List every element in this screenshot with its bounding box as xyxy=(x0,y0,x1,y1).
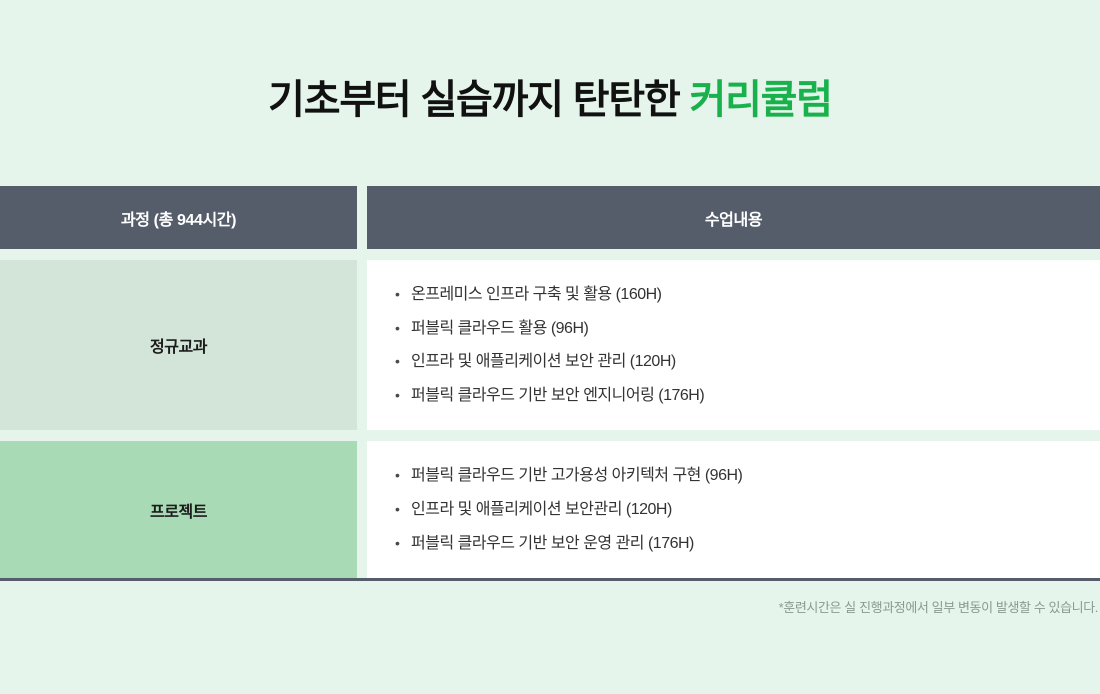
table-header-cell-course: 과정 (총 944시간) xyxy=(0,186,357,249)
table-header-cell-content: 수업내용 xyxy=(367,186,1100,249)
table-row-label-regular: 정규교과 xyxy=(150,333,207,357)
list-item-label: 온프레미스 인프라 구축 및 활용 (160H) xyxy=(411,286,1100,304)
list-item-label: 인프라 및 애플리케이션 보안관리 (120H) xyxy=(411,501,1100,519)
bullet-icon: • xyxy=(395,388,411,402)
table-row: 프로젝트 • 퍼블릭 클라우드 기반 고가용성 아키텍처 구현 (96H) • … xyxy=(0,441,1100,578)
list-item-label: 퍼블릭 클라우드 기반 보안 엔지니어링 (176H) xyxy=(411,387,1100,405)
bullet-icon: • xyxy=(395,536,411,550)
list-item-label: 퍼블릭 클라우드 활용 (96H) xyxy=(411,320,1100,338)
bullet-icon: • xyxy=(395,502,411,516)
bullet-icon: • xyxy=(395,287,411,301)
row-divider-gap xyxy=(0,249,1100,260)
table-row-label-project: 프로젝트 xyxy=(150,498,207,522)
table-row: 정규교과 • 온프레미스 인프라 구축 및 활용 (160H) • 퍼블릭 클라… xyxy=(0,260,1100,430)
footnote-text: *훈련시간은 실 진행과정에서 일부 변동이 발생할 수 있습니다. xyxy=(779,597,1098,616)
table-row-label-cell-project: 프로젝트 xyxy=(0,441,357,578)
footnote-section: *훈련시간은 실 진행과정에서 일부 변동이 발생할 수 있습니다. xyxy=(0,581,1100,616)
list-item: • 퍼블릭 클라우드 활용 (96H) xyxy=(395,312,1100,346)
list-item: • 퍼블릭 클라우드 기반 보안 운영 관리 (176H) xyxy=(395,527,1100,561)
table-row-content-cell-regular: • 온프레미스 인프라 구축 및 활용 (160H) • 퍼블릭 클라우드 활용… xyxy=(367,260,1100,430)
bullet-icon: • xyxy=(395,321,411,335)
page-title-lead: 기초부터 실습까지 탄탄한 xyxy=(268,78,689,122)
table-header-row: 과정 (총 944시간) 수업내용 xyxy=(0,186,1100,249)
table-header-content-label: 수업내용 xyxy=(705,206,762,230)
table-header-course-label: 과정 (총 944시간) xyxy=(121,206,236,230)
curriculum-table: 과정 (총 944시간) 수업내용 정규교과 • 온프레미스 인프라 구축 및 … xyxy=(0,186,1100,581)
list-item-label: 인프라 및 애플리케이션 보안 관리 (120H) xyxy=(411,353,1100,371)
bullet-icon: • xyxy=(395,468,411,482)
list-item: • 퍼블릭 클라우드 기반 고가용성 아키텍처 구현 (96H) xyxy=(395,459,1100,493)
bullet-icon: • xyxy=(395,354,411,368)
table-row-label-cell-regular: 정규교과 xyxy=(0,260,357,430)
list-item: • 퍼블릭 클라우드 기반 보안 엔지니어링 (176H) xyxy=(395,379,1100,413)
list-item-label: 퍼블릭 클라우드 기반 보안 운영 관리 (176H) xyxy=(411,535,1100,553)
curriculum-page: { "page": { "background_color": "#e6f5ec… xyxy=(0,0,1100,694)
table-row-content-cell-project: • 퍼블릭 클라우드 기반 고가용성 아키텍처 구현 (96H) • 인프라 및… xyxy=(367,441,1100,578)
list-item: • 인프라 및 애플리케이션 보안 관리 (120H) xyxy=(395,345,1100,379)
page-title: 기초부터 실습까지 탄탄한 커리큘럼 xyxy=(268,76,832,124)
page-title-accent: 커리큘럼 xyxy=(689,78,831,122)
list-item: • 인프라 및 애플리케이션 보안관리 (120H) xyxy=(395,493,1100,527)
title-section: 기초부터 실습까지 탄탄한 커리큘럼 xyxy=(0,0,1100,186)
list-item-label: 퍼블릭 클라우드 기반 고가용성 아키텍처 구현 (96H) xyxy=(411,467,1100,485)
row-divider-gap xyxy=(0,430,1100,441)
list-item: • 온프레미스 인프라 구축 및 활용 (160H) xyxy=(395,278,1100,312)
